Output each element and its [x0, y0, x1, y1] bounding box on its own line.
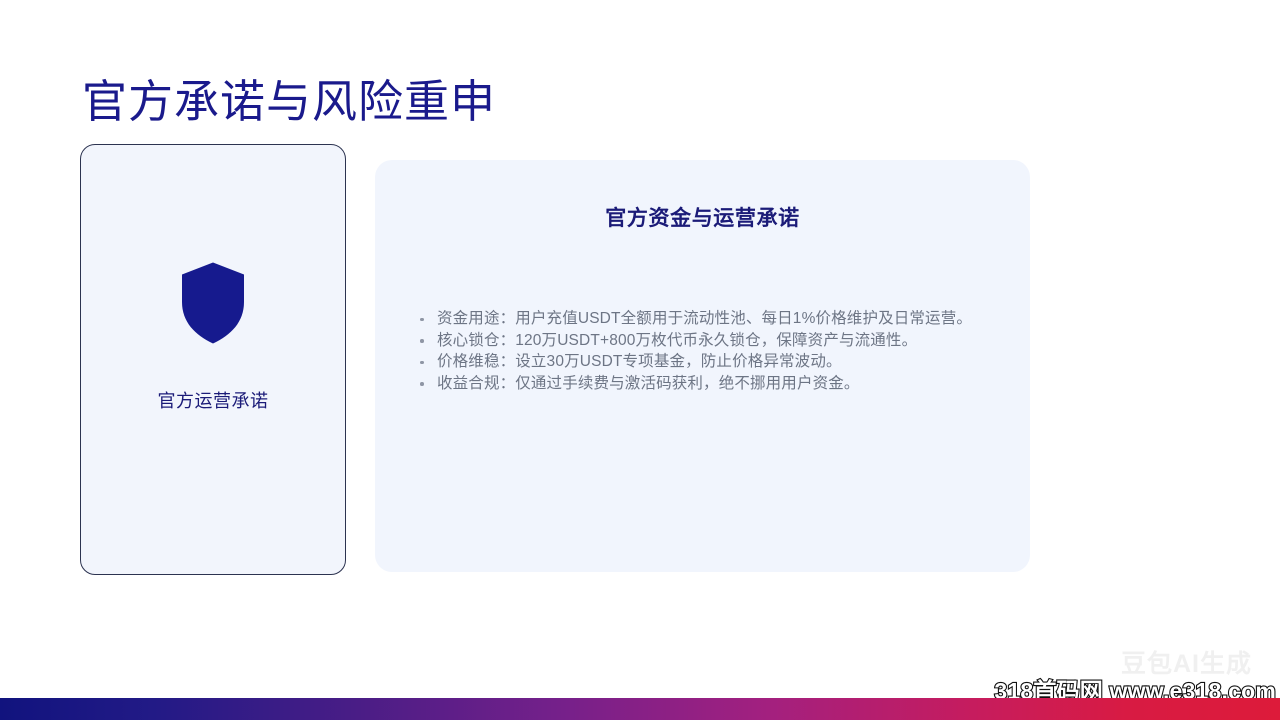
- funding-commitment-title: 官方资金与运营承诺: [375, 202, 1030, 232]
- funding-commitment-card[interactable]: 官方资金与运营承诺 资金用途：用户充值USDT全额用于流动性池、每日1%价格维护…: [375, 160, 1030, 572]
- list-item: 资金用途：用户充值USDT全额用于流动性池、每日1%价格维护及日常运营。: [415, 308, 1010, 330]
- list-item: 核心锁仓：120万USDT+800万枚代币永久锁仓，保障资产与流通性。: [415, 330, 1010, 352]
- shield-icon: [181, 262, 245, 344]
- page-title: 官方承诺与风险重申: [82, 76, 496, 128]
- slide-root: 官方承诺与风险重申 官方运营承诺 官方资金与运营承诺 资金用途：用户充值USDT…: [0, 0, 1280, 720]
- list-item: 价格维稳：设立30万USDT专项基金，防止价格异常波动。: [415, 351, 1010, 373]
- official-commitment-card[interactable]: 官方运营承诺: [80, 144, 346, 575]
- commitment-bullet-list: 资金用途：用户充值USDT全额用于流动性池、每日1%价格维护及日常运营。 核心锁…: [415, 308, 1010, 394]
- footer-gradient-bar: [0, 698, 1280, 720]
- official-commitment-label: 官方运营承诺: [158, 387, 269, 413]
- list-item: 收益合规：仅通过手续费与激活码获利，绝不挪用用户资金。: [415, 373, 1010, 395]
